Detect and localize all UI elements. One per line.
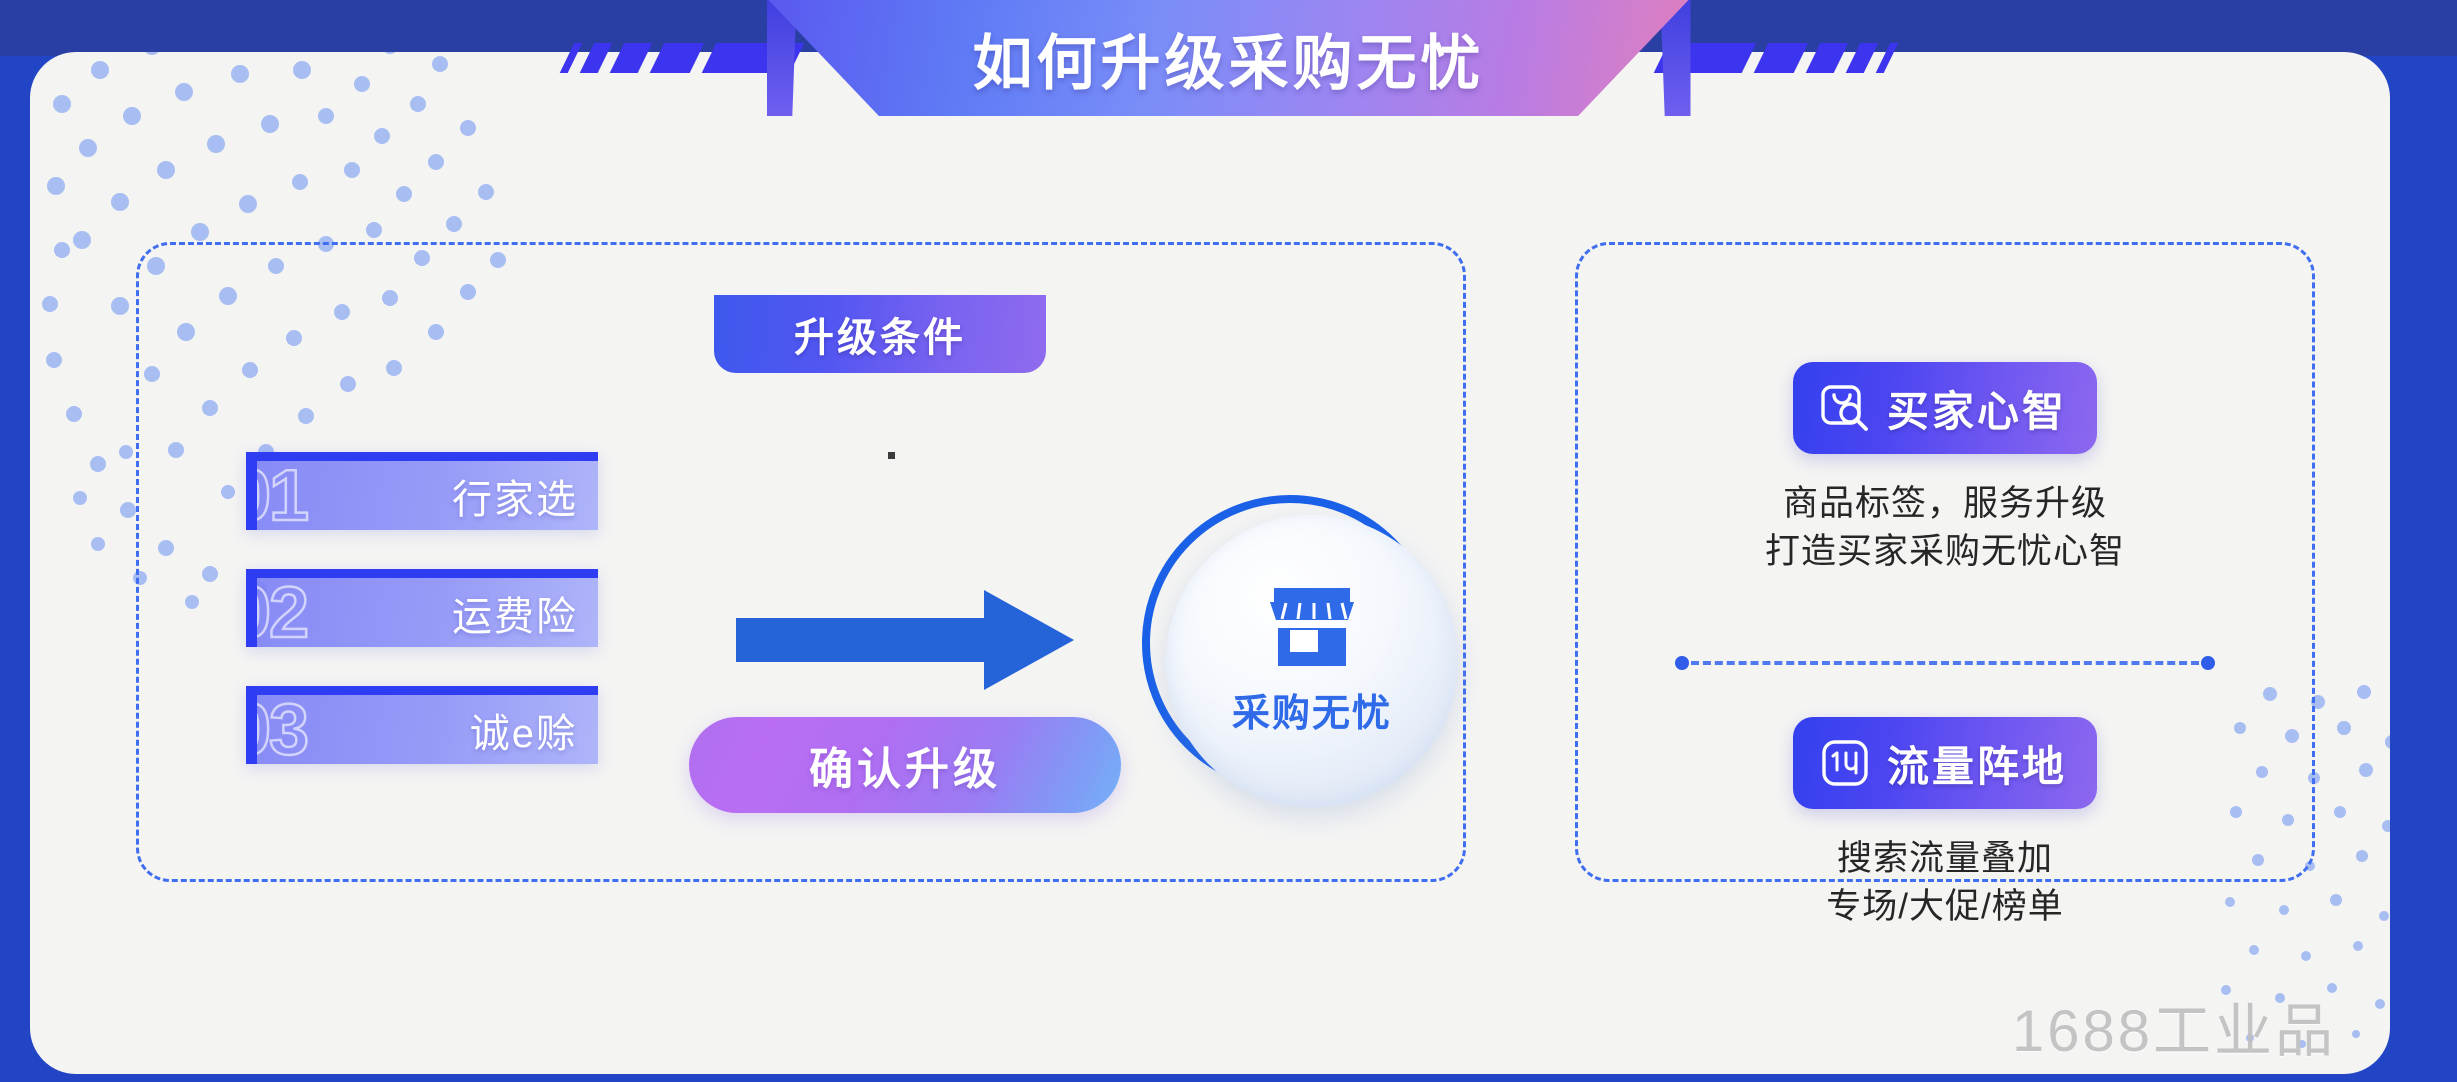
upgrade-steps-list: 01 行家选 02 运费险 03 诚e赊 bbox=[246, 452, 598, 764]
benefit-block-traffic: 流量阵地 搜索流量叠加 专场/大促/榜单 bbox=[1575, 717, 2315, 932]
purchase-worry-free-badge: 采购无忧 bbox=[1142, 495, 1460, 813]
divider-dot-right bbox=[2201, 656, 2215, 670]
traffic-chart-icon bbox=[1819, 737, 1871, 789]
step-label: 运费险 bbox=[452, 584, 578, 642]
upgrade-condition-label: 升级条件 bbox=[794, 305, 966, 363]
top-band bbox=[0, 0, 2457, 56]
list-item[interactable]: 03 诚e赊 bbox=[246, 686, 598, 764]
badge-label: 采购无忧 bbox=[1232, 682, 1392, 737]
benefit-description: 搜索流量叠加 专场/大促/榜单 bbox=[1826, 835, 2063, 932]
benefit-block-buyer-mindset: 买家心智 商品标签，服务升级 打造买家采购无忧心智 bbox=[1575, 362, 2315, 577]
step-label: 行家选 bbox=[452, 467, 578, 525]
upgrade-condition-pill: 升级条件 bbox=[714, 295, 1046, 373]
confirm-upgrade-label: 确认升级 bbox=[809, 733, 1001, 797]
step-number: 02 bbox=[246, 577, 307, 648]
confirm-upgrade-button[interactable]: 确认升级 bbox=[689, 717, 1121, 813]
step-number: 03 bbox=[246, 694, 307, 765]
benefit-description-line: 打造买家采购无忧心智 bbox=[1765, 528, 2125, 576]
step-label: 诚e赊 bbox=[470, 701, 578, 759]
main-card: 升级条件 01 行家选 02 运费险 03 诚e赊 确认升级 bbox=[30, 52, 2390, 1074]
infographic-canvas: 升级条件 01 行家选 02 运费险 03 诚e赊 确认升级 bbox=[0, 0, 2457, 1082]
watermark: 1688工业品 bbox=[2012, 984, 2336, 1068]
store-icon bbox=[1268, 586, 1356, 668]
benefit-tag[interactable]: 流量阵地 bbox=[1793, 717, 2097, 809]
list-item[interactable]: 02 运费险 bbox=[246, 569, 598, 647]
benefit-tag[interactable]: 买家心智 bbox=[1793, 362, 2097, 454]
benefit-tag-label: 买家心智 bbox=[1887, 378, 2067, 439]
arrow-right-icon bbox=[736, 590, 1074, 690]
divider-line bbox=[1691, 661, 2199, 665]
benefit-description: 商品标签，服务升级 打造买家采购无忧心智 bbox=[1765, 480, 2125, 577]
badge-face: 采购无忧 bbox=[1166, 515, 1458, 807]
benefit-divider bbox=[1675, 656, 2215, 670]
benefit-tag-label: 流量阵地 bbox=[1887, 733, 2067, 794]
cursor-dot-artifact bbox=[888, 452, 895, 459]
shopping-bag-search-icon bbox=[1819, 382, 1871, 434]
step-number: 01 bbox=[246, 460, 307, 531]
benefit-description-line: 搜索流量叠加 bbox=[1826, 835, 2063, 883]
divider-dot-left bbox=[1675, 656, 1689, 670]
benefit-description-line: 专场/大促/榜单 bbox=[1826, 883, 2063, 931]
list-item[interactable]: 01 行家选 bbox=[246, 452, 598, 530]
benefit-description-line: 商品标签，服务升级 bbox=[1765, 480, 2125, 528]
